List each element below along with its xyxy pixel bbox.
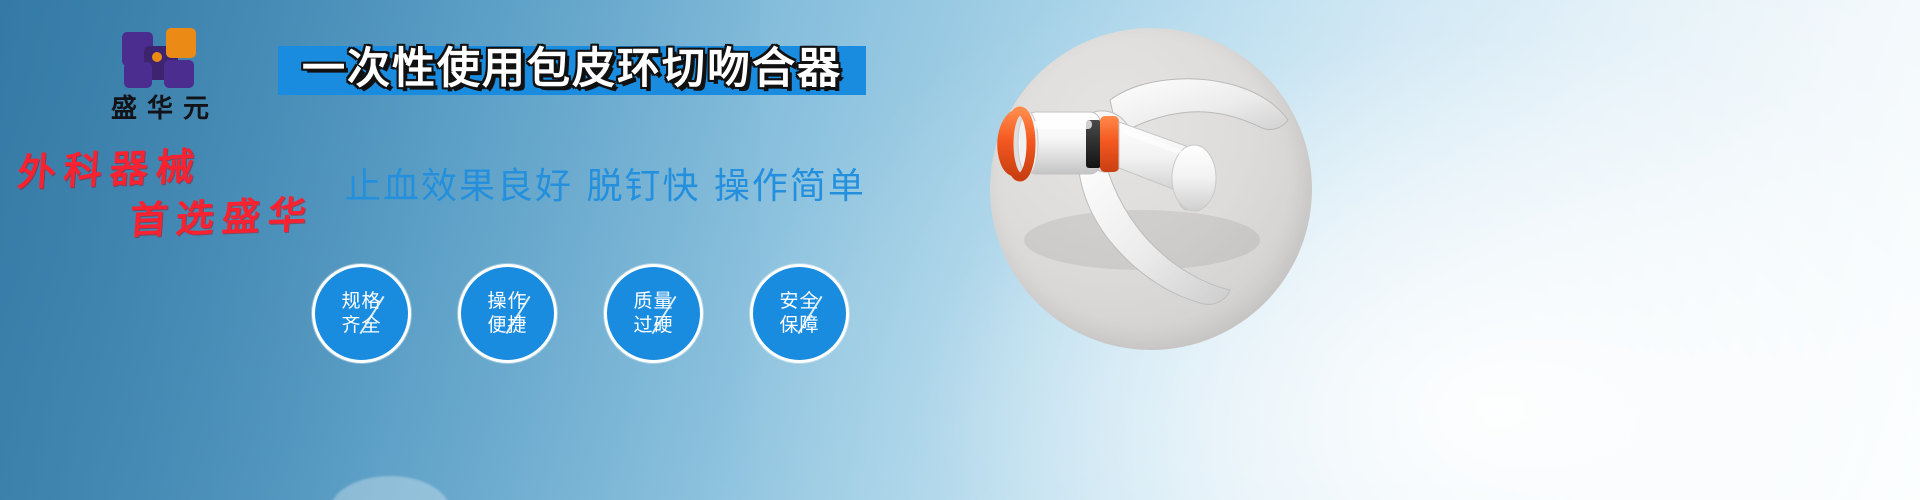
feature-label-line-1: 规格 — [341, 290, 381, 314]
headline-bar: 一次性使用包皮环切吻合器 — [278, 46, 866, 95]
feature-label-line-2: 保障 — [779, 314, 819, 338]
feature-badge-specification[interactable]: 规格 齐全 — [312, 264, 411, 363]
brand-name: 盛华元 — [60, 96, 260, 122]
bottom-decoration-arc — [330, 476, 450, 500]
product-image — [990, 28, 1312, 350]
feature-label-line-1: 操作 — [487, 290, 527, 314]
brand-logo: 盛华元 — [60, 26, 260, 122]
feature-label-line-1: 安全 — [779, 290, 819, 314]
logo-square-bottom-left — [124, 62, 152, 88]
feature-badge-quality[interactable]: 质量 过硬 — [604, 264, 703, 363]
logo-square-bottom-right — [164, 60, 194, 88]
circumcision-stapler-illustration — [990, 28, 1312, 350]
feature-badge-operation[interactable]: 操作 便捷 — [458, 264, 557, 363]
calligraphy-slogan: 外科器械 首选盛华 — [18, 148, 348, 236]
subtitle-text: 止血效果良好 脱钉快 操作简单 — [345, 166, 866, 207]
logo-mark-icon — [122, 26, 198, 90]
headline-text: 一次性使用包皮环切吻合器 — [302, 48, 842, 91]
calligraphy-line-1: 外科器械 — [16, 142, 350, 191]
feature-label-line-2: 齐全 — [341, 314, 381, 338]
promo-banner: 盛华元 一次性使用包皮环切吻合器 外科器械 首选盛华 止血效果良好 脱钉快 操作… — [0, 0, 1920, 500]
feature-label-line-1: 质量 — [633, 290, 673, 314]
feature-badges: 规格 齐全 操作 便捷 质量 过硬 安全 保障 — [312, 264, 849, 363]
feature-label-line-2: 便捷 — [487, 314, 527, 338]
logo-notch-orange — [152, 52, 162, 62]
calligraphy-line-2: 首选盛华 — [128, 194, 349, 240]
feature-badge-safety[interactable]: 安全 保障 — [750, 264, 849, 363]
feature-label-line-2: 过硬 — [633, 314, 673, 338]
logo-square-orange — [166, 28, 196, 58]
